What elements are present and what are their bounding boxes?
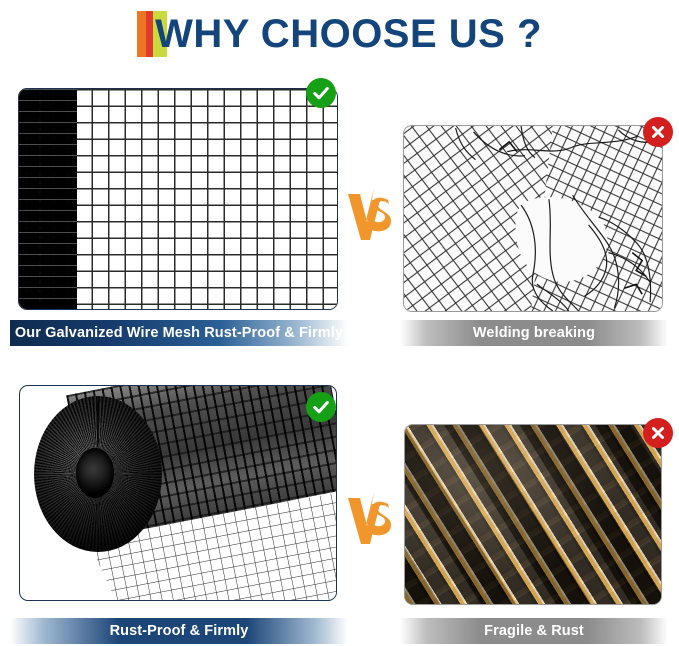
image-galvanized-wire-mesh-panel — [18, 88, 338, 310]
panel-bad-1 — [403, 125, 663, 312]
infographic-root: WHY CHOOSE US ? Our Galvanized Wire Mesh… — [0, 0, 679, 646]
caption-good-2: Rust-Proof & Firmly — [10, 618, 348, 644]
rusted-mesh-texture — [405, 425, 661, 604]
status-badge-cross-2 — [643, 418, 673, 448]
flat-welded-grid — [75, 89, 337, 309]
image-wire-mesh-roll — [19, 385, 337, 601]
caption-good-1-text: Our Galvanized Wire Mesh Rust-Proof & Fi… — [15, 325, 343, 341]
status-badge-check-2 — [306, 392, 336, 422]
caption-good-2-text: Rust-Proof & Firmly — [110, 623, 249, 639]
page-title-text: WHY CHOOSE US ? — [155, 11, 542, 57]
vs-badge-1 — [344, 184, 396, 246]
caption-bad-1: Welding breaking — [400, 320, 668, 346]
caption-bad-2-text: Fragile & Rust — [484, 623, 584, 639]
torn-netting-illustration — [404, 126, 662, 311]
caption-bad-2: Fragile & Rust — [400, 618, 668, 644]
page-title: WHY CHOOSE US ? — [0, 6, 679, 62]
panel-good-1 — [18, 88, 338, 310]
status-badge-check-1 — [306, 78, 336, 108]
accent-stripe-red — [146, 11, 153, 57]
vs-badge-2 — [344, 488, 396, 550]
caption-bad-1-text: Welding breaking — [473, 325, 595, 341]
accent-stripe-orange — [137, 11, 146, 57]
caption-good-1: Our Galvanized Wire Mesh Rust-Proof & Fi… — [10, 320, 348, 346]
panel-bad-2 — [404, 424, 662, 605]
panel-good-2 — [19, 385, 337, 601]
mesh-roll-core-hole — [76, 448, 114, 498]
image-rusted-wire-mesh — [404, 424, 662, 605]
status-badge-cross-1 — [643, 117, 673, 147]
dark-mesh-roll-edge — [19, 89, 77, 309]
image-broken-welded-netting — [403, 125, 663, 312]
